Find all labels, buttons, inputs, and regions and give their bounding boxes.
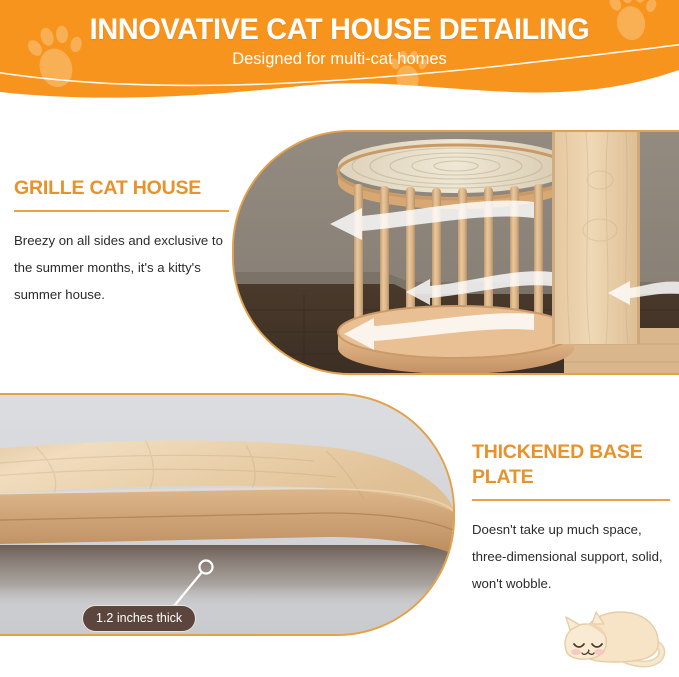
- feature-grille-cat-house-text: GRILLE CAT HOUSE Breezy on all sides and…: [14, 176, 229, 308]
- infographic-page: INNOVATIVE CAT HOUSE DETAILING Designed …: [0, 0, 679, 677]
- thickness-callout-badge: 1.2 inches thick: [82, 605, 196, 632]
- feature-title-line-1: THICKENED BASE: [472, 440, 670, 465]
- feature-thickened-base-plate-text: THICKENED BASE PLATE Doesn't take up muc…: [472, 440, 670, 597]
- sleeping-cat-icon: [552, 600, 670, 672]
- title-divider: [472, 499, 670, 501]
- title-divider: [14, 210, 229, 212]
- grille-cat-house-image: [234, 132, 679, 375]
- page-subtitle: Designed for multi-cat homes: [0, 50, 679, 69]
- feature-title-line-2: PLATE: [472, 465, 670, 490]
- header-banner: INNOVATIVE CAT HOUSE DETAILING Designed …: [0, 0, 679, 112]
- feature-grille-cat-house-photo: [232, 130, 679, 375]
- feature-body: Doesn't take up much space, three-dimens…: [472, 516, 670, 597]
- feature-body: Breezy on all sides and exclusive to the…: [14, 227, 229, 308]
- feature-title: GRILLE CAT HOUSE: [14, 176, 229, 201]
- page-title: INNOVATIVE CAT HOUSE DETAILING: [14, 13, 666, 47]
